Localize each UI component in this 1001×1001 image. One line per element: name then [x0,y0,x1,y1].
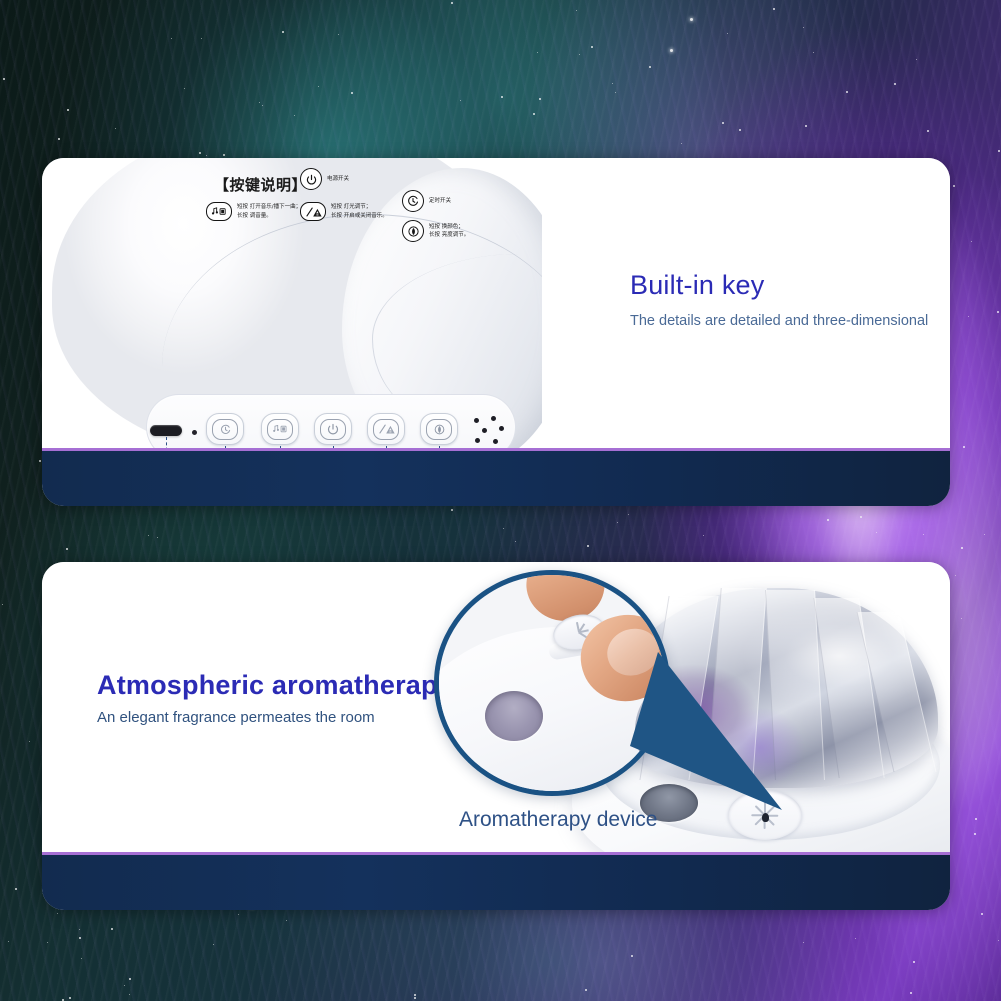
legend-row-power: 电源开关 [300,168,349,190]
magnifier-content [439,575,665,791]
on-off-button[interactable] [314,413,352,445]
speaker-hole-cluster [474,416,508,446]
power-icon [300,168,322,190]
music-volume-icon [267,419,293,440]
page-title-atmospheric-aromatherapy: Atmospheric aromatherapy [97,670,453,701]
legend-title: 【按键说明】 [214,174,307,195]
card-2-footer-bar [42,855,950,910]
timer-icon [402,190,424,212]
subtitle-built-in-key: The details are detailed and three-dimen… [630,313,928,329]
legend-row-projection: 短按 灯光调节；长按 开启或关闭音乐。 [300,202,388,221]
product-photo-control-panel: 【按键说明】 电源开关 [42,158,542,448]
button-instructions-legend: 【按键说明】 电源开关 [42,158,542,268]
music-volume-icon [206,202,232,221]
usb-c-charging-port[interactable] [150,425,182,436]
legend-text-timer: 定时开关 [429,197,451,205]
lighting-icon [402,220,424,242]
label-aromatherapy-device: Aromatherapy device [459,808,657,832]
legend-text-power: 电源开关 [327,175,349,183]
legend-row-lighting: 短按 换颜色；长按 亮度调节。 [402,220,469,242]
page-title-built-in-key: Built-in key [630,270,928,301]
status-led-dot [192,430,197,435]
legend-text-projection: 短按 灯光调节；长按 开启或关闭音乐。 [331,203,388,220]
legend-text-music: 短按 打开音乐/播下一曲；长按 调音量。 [237,203,301,220]
timing-power-button[interactable] [206,413,244,445]
card-1-text-block: Built-in key The details are detailed an… [630,270,928,329]
leader-line-charging-port [166,437,167,448]
card-1-body: 【按键说明】 电源开关 [42,158,950,448]
card-1-footer-bar [42,451,950,506]
power-icon [320,419,346,440]
legend-text-lighting: 短按 换颜色；长按 亮度调节。 [429,223,469,240]
marketing-image-stage: 【按键说明】 电源开关 [0,0,1001,1001]
aromatherapy-vent [728,790,802,840]
projection-icon [373,419,399,440]
card-2-text-block: Atmospheric aromatherapy An elegant frag… [97,670,453,726]
projection-icon [300,202,326,221]
magnifier-callout-aromatherapy [434,570,670,796]
lighting-pattern-button[interactable] [420,413,458,445]
vent-core [762,813,769,822]
projection-mode-button[interactable] [367,413,405,445]
subtitle-atmospheric-aromatherapy: An elegant fragrance permeates the room [97,709,453,726]
magnified-vent-socket [485,691,543,741]
legend-row-music: 短按 打开音乐/播下一曲；长按 调音量。 [206,202,301,221]
legend-row-timer: 定时开关 [402,190,451,212]
music-volume-button[interactable] [261,413,299,445]
lighting-icon [426,419,452,440]
card-built-in-key: 【按键说明】 电源开关 [42,158,950,506]
timer-icon [212,419,238,440]
